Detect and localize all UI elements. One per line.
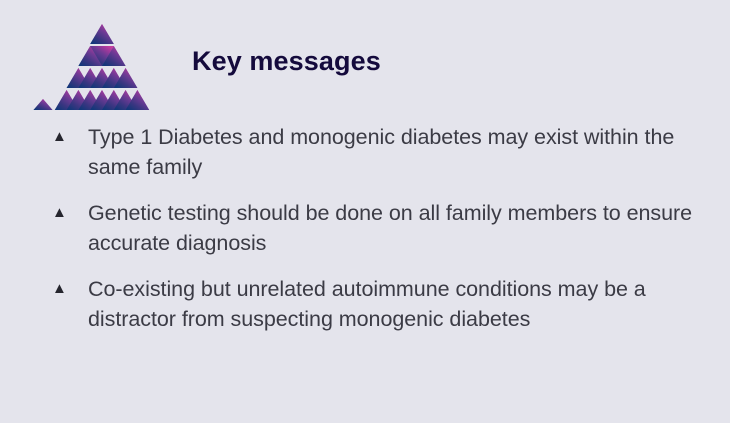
list-item-text: Genetic testing should be done on all fa… bbox=[88, 198, 713, 258]
list-item: ▲ Co-existing but unrelated autoimmune c… bbox=[0, 274, 730, 334]
triangle-pyramid-logo bbox=[31, 22, 173, 112]
triangle-bullet-icon: ▲ bbox=[52, 198, 88, 220]
key-messages-slide: Key messages ▲ Type 1 Diabetes and monog… bbox=[0, 0, 730, 423]
slide-header: Key messages bbox=[0, 0, 730, 120]
key-messages-list: ▲ Type 1 Diabetes and monogenic diabetes… bbox=[0, 122, 730, 350]
list-item-text: Type 1 Diabetes and monogenic diabetes m… bbox=[88, 122, 713, 182]
page-title: Key messages bbox=[192, 46, 381, 77]
triangle-bullet-icon: ▲ bbox=[52, 122, 88, 144]
list-item: ▲ Genetic testing should be done on all … bbox=[0, 198, 730, 258]
list-item: ▲ Type 1 Diabetes and monogenic diabetes… bbox=[0, 122, 730, 182]
triangle-bullet-icon: ▲ bbox=[52, 274, 88, 296]
list-item-text: Co-existing but unrelated autoimmune con… bbox=[88, 274, 713, 334]
